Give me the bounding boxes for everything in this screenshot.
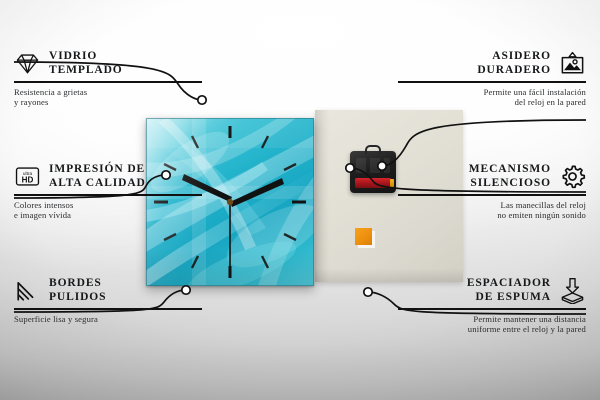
infographic-canvas: VIDRIO TEMPLADO Resistencia a grietas y …	[0, 0, 600, 400]
feature-description: Permite mantener una distancia uniforme …	[398, 314, 586, 335]
mechanism-hanger	[365, 145, 381, 154]
arrow-layers-icon	[559, 277, 586, 304]
feature-divider	[398, 308, 586, 310]
ultra-hd-icon: ultra HD	[14, 163, 41, 190]
gear-icon	[559, 163, 586, 190]
mechanism-housing-detail	[356, 158, 390, 173]
feature-description: Resistencia a grietas y rayones	[14, 87, 202, 108]
feature-mecanismo-silencioso: MECANISMO SILENCIOSO Las manecillas del …	[398, 163, 586, 220]
diamond-icon	[14, 50, 41, 77]
polished-edges-icon	[14, 277, 41, 304]
feature-description: Colores intensos e imagen vívida	[14, 200, 202, 221]
feature-description: Permite una fácil instalación del reloj …	[398, 87, 586, 108]
feature-title: ASIDERO DURADERO	[398, 50, 551, 77]
feature-divider	[398, 194, 586, 196]
feature-bordes-pulidos: BORDES PULIDOS Superficie lisa y segura	[14, 277, 202, 324]
feature-title: BORDES PULIDOS	[49, 277, 202, 304]
feature-divider	[14, 81, 202, 83]
feature-description: Las manecillas del reloj no emiten ningú…	[398, 200, 586, 221]
feature-divider	[14, 194, 202, 196]
feature-divider	[398, 81, 586, 83]
feature-asidero-duradero: ASIDERO DURADERO Permite una fácil insta…	[398, 50, 586, 107]
feature-description: Superficie lisa y segura	[14, 314, 202, 324]
feature-vidrio-templado: VIDRIO TEMPLADO Resistencia a grietas y …	[14, 50, 202, 107]
clock-mechanism	[350, 151, 396, 193]
feature-impresion-alta-calidad: ultra HD IMPRESIÓN DE ALTA CALIDAD Color…	[14, 163, 202, 220]
hanging-frame-icon	[559, 50, 586, 77]
feature-title: MECANISMO SILENCIOSO	[398, 163, 551, 190]
svg-text:HD: HD	[22, 175, 34, 184]
feature-title: ESPACIADOR DE ESPUMA	[398, 277, 551, 304]
feature-title: VIDRIO TEMPLADO	[49, 50, 202, 77]
feature-title: IMPRESIÓN DE ALTA CALIDAD	[49, 163, 202, 190]
foam-spacer	[355, 228, 372, 245]
battery-terminal	[390, 179, 394, 187]
battery	[355, 178, 391, 188]
feature-divider	[14, 308, 202, 310]
feature-espaciador-espuma: ESPACIADOR DE ESPUMA Permite mantener un…	[398, 277, 586, 334]
